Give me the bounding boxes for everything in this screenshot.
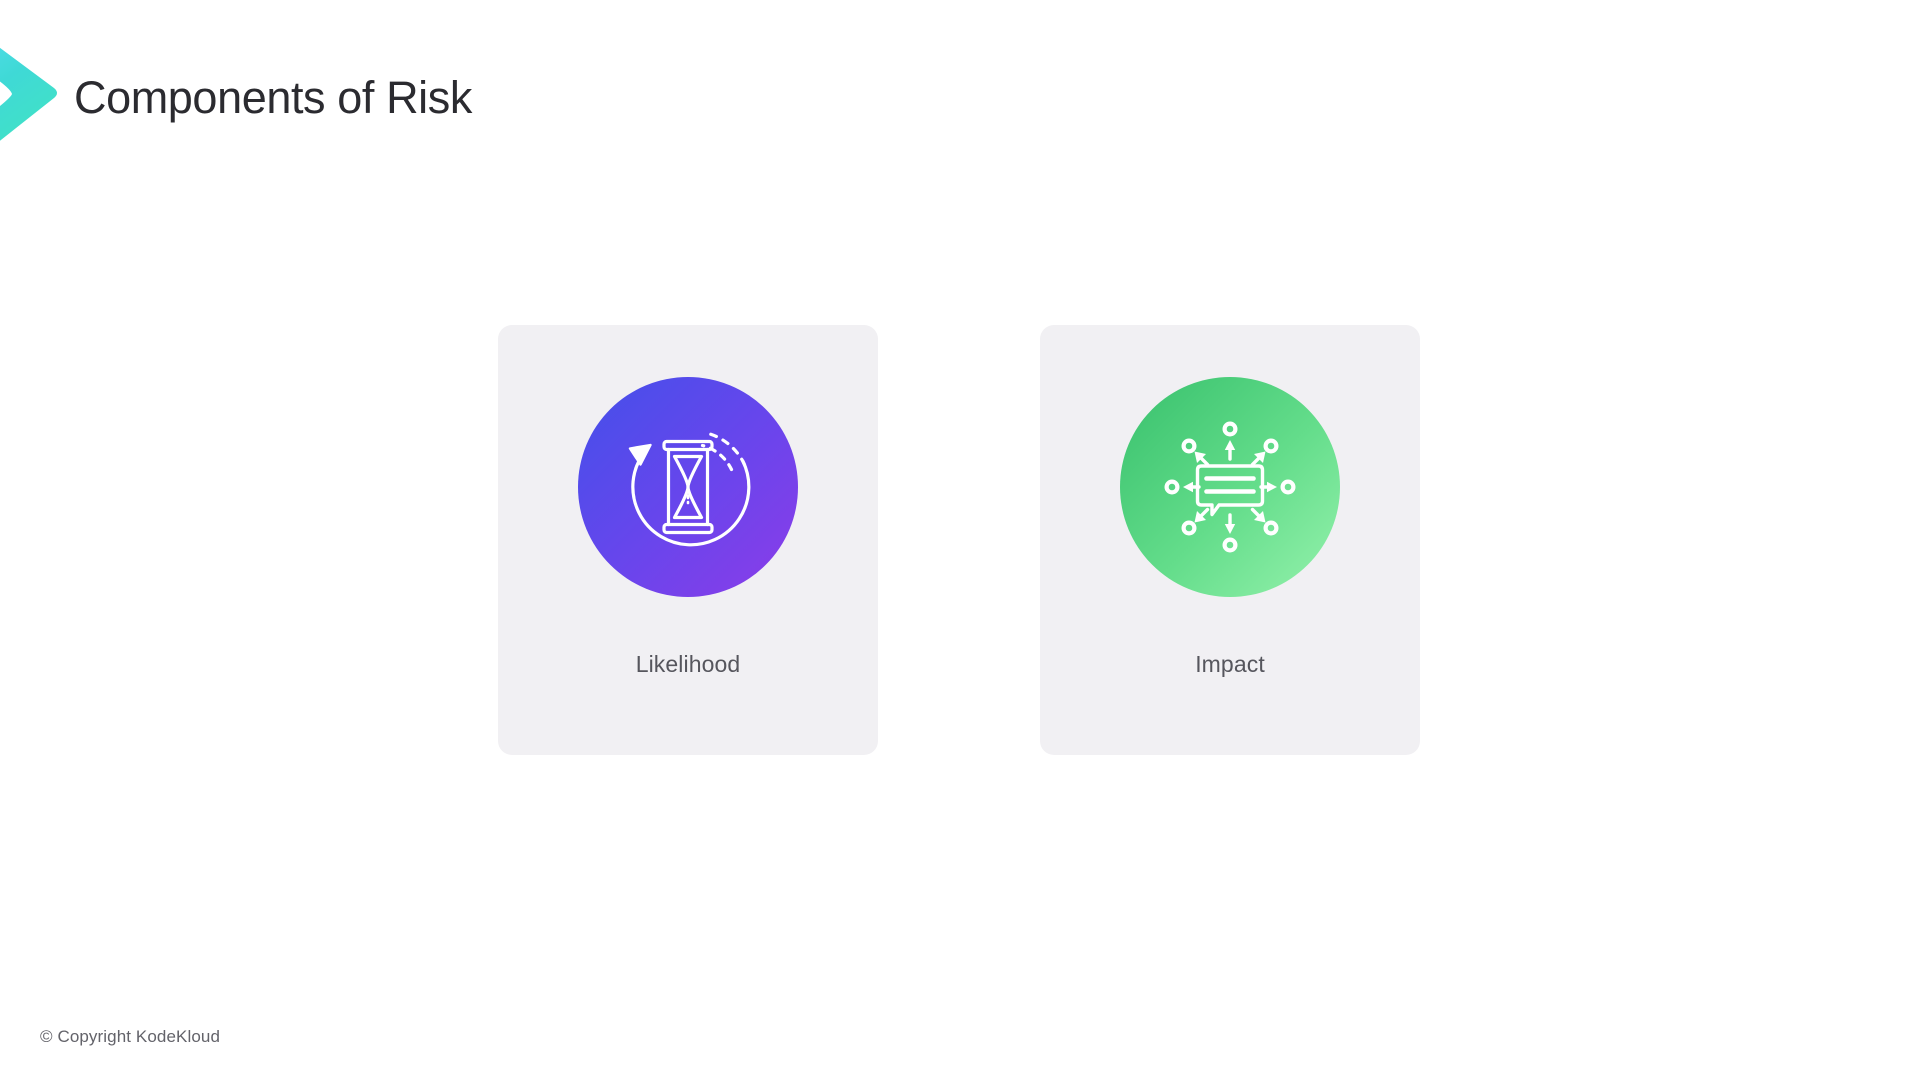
impact-icon-circle: [1120, 377, 1340, 597]
card-impact[interactable]: Impact: [1040, 325, 1420, 755]
footer-copyright: © Copyright KodeKloud: [40, 1027, 220, 1047]
likelihood-icon-circle: [578, 377, 798, 597]
card-label-likelihood: Likelihood: [636, 651, 741, 678]
page-title: Components of Risk: [74, 72, 472, 124]
hourglass-rotate-icon: [578, 377, 798, 597]
components-card-row: Likelihood: [498, 325, 1420, 755]
speech-bubble-radiating-arrows-icon: [1120, 377, 1340, 597]
brand-chevron-logo: [0, 22, 60, 168]
chevron-right-icon: [0, 22, 60, 168]
card-likelihood[interactable]: Likelihood: [498, 325, 878, 755]
card-label-impact: Impact: [1195, 651, 1265, 678]
